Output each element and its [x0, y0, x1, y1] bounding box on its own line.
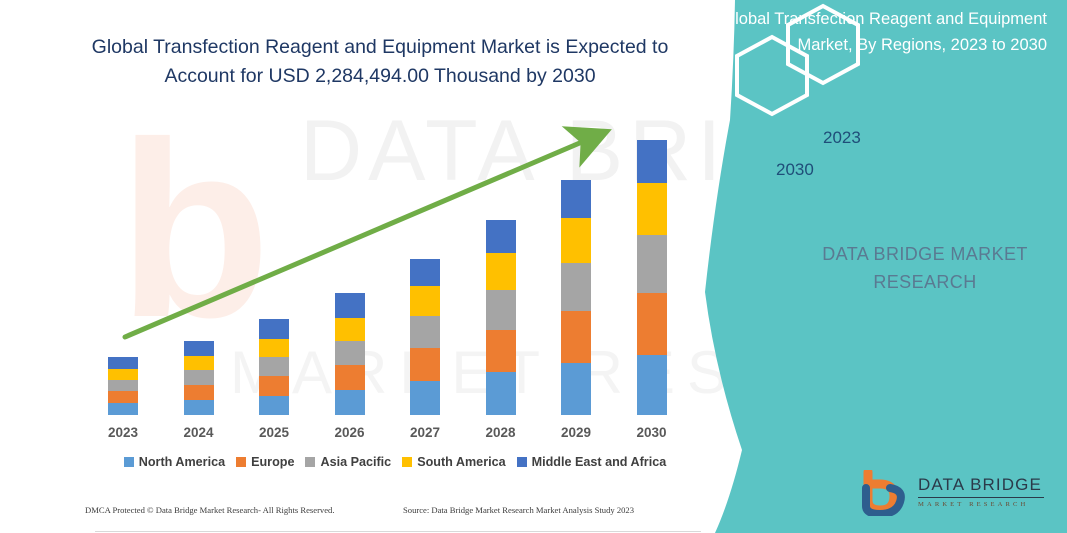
x-axis-label-2027: 2027 [395, 425, 455, 440]
bar-segment-2028-south-america [486, 253, 516, 290]
bar-segment-2029-middle-east-and-africa [561, 180, 591, 218]
infographic-root: b DATA BRIDGE MARKET RESEARCH Global Tra… [0, 0, 1067, 533]
bar-segment-2024-europe [184, 385, 214, 400]
bar-segment-2029-north-america [561, 363, 591, 415]
bar-segment-2025-south-america [259, 339, 289, 357]
footer: DMCA Protected © Data Bridge Market Rese… [0, 505, 700, 527]
bar-segment-2025-middle-east-and-africa [259, 319, 289, 339]
bar-segment-2024-north-america [184, 400, 214, 415]
right-panel: Global Transfection Reagent and Equipmen… [690, 0, 1067, 533]
bar-segment-2030-south-america [637, 183, 667, 235]
legend-swatch-icon [124, 457, 134, 467]
legend-swatch-icon [236, 457, 246, 467]
bar-segment-2024-asia-pacific [184, 370, 214, 385]
chart-plot-area [95, 120, 695, 415]
legend-item-asia-pacific[interactable]: Asia Pacific [305, 455, 391, 469]
bar-segment-2029-asia-pacific [561, 263, 591, 311]
bar-segment-2023-asia-pacific [108, 380, 138, 391]
bar-2030 [637, 140, 667, 415]
logo-tagline: MARKET RESEARCH [918, 501, 1044, 508]
logo-divider [918, 497, 1044, 498]
legend-item-north-america[interactable]: North America [124, 455, 225, 469]
legend-label: Europe [251, 455, 294, 469]
bar-segment-2025-europe [259, 376, 289, 396]
footer-source: Source: Data Bridge Market Research Mark… [403, 505, 634, 515]
hexagon-badge-2023-label: 2023 [823, 128, 861, 148]
x-axis-labels: 20232024202520262027202820292030 [95, 425, 701, 445]
bar-segment-2027-asia-pacific [410, 316, 440, 348]
panel-brand-text: DATA BRIDGE MARKET RESEARCH [800, 240, 1050, 296]
x-axis-label-2026: 2026 [320, 425, 380, 440]
bar-2027 [410, 259, 440, 415]
legend-item-middle-east-and-africa[interactable]: Middle East and Africa [517, 455, 667, 469]
bar-segment-2030-europe [637, 293, 667, 355]
bar-segment-2023-middle-east-and-africa [108, 357, 138, 369]
axis-baseline [95, 531, 701, 532]
bar-segment-2030-north-america [637, 355, 667, 415]
bar-segment-2028-middle-east-and-africa [486, 220, 516, 253]
bar-2029 [561, 180, 591, 415]
bar-segment-2028-asia-pacific [486, 290, 516, 330]
bar-segment-2025-north-america [259, 396, 289, 415]
bar-2025 [259, 319, 289, 415]
hexagon-2023-shape [788, 6, 858, 83]
x-axis-label-2023: 2023 [93, 425, 153, 440]
legend-label: Middle East and Africa [532, 455, 667, 469]
logo-name: DATA BRIDGE [918, 475, 1044, 495]
x-axis-label-2024: 2024 [169, 425, 229, 440]
bar-segment-2026-middle-east-and-africa [335, 293, 365, 318]
footer-copyright: DMCA Protected © Data Bridge Market Rese… [85, 505, 335, 515]
bar-segment-2027-south-america [410, 286, 440, 316]
legend-label: North America [139, 455, 225, 469]
bar-segment-2024-south-america [184, 356, 214, 370]
bar-segment-2030-middle-east-and-africa [637, 140, 667, 183]
bar-2023 [108, 357, 138, 415]
bar-segment-2026-europe [335, 365, 365, 390]
bar-segment-2025-asia-pacific [259, 357, 289, 376]
bar-segment-2023-north-america [108, 403, 138, 415]
legend-label: South America [417, 455, 505, 469]
bar-segment-2027-europe [410, 348, 440, 381]
hexagon-badges [690, 0, 890, 120]
bar-segment-2029-europe [561, 311, 591, 363]
x-axis-label-2029: 2029 [546, 425, 606, 440]
bar-segment-2023-south-america [108, 369, 138, 380]
bar-segment-2027-middle-east-and-africa [410, 259, 440, 286]
hexagon-2030-shape [737, 37, 807, 114]
legend-swatch-icon [517, 457, 527, 467]
bar-segment-2029-south-america [561, 218, 591, 263]
legend-item-south-america[interactable]: South America [402, 455, 505, 469]
x-axis-label-2028: 2028 [471, 425, 531, 440]
bar-segment-2023-europe [108, 391, 138, 403]
page-title: Global Transfection Reagent and Equipmen… [70, 33, 690, 91]
bridge-b-mark-icon [860, 470, 914, 516]
bar-segment-2026-asia-pacific [335, 341, 365, 365]
legend-swatch-icon [402, 457, 412, 467]
bar-2024 [184, 341, 214, 415]
legend-label: Asia Pacific [320, 455, 391, 469]
bar-segment-2026-south-america [335, 318, 365, 341]
company-logo: DATA BRIDGE MARKET RESEARCH [860, 470, 1050, 520]
bar-segment-2030-asia-pacific [637, 235, 667, 293]
x-axis-label-2030: 2030 [622, 425, 682, 440]
chart-legend: North AmericaEuropeAsia PacificSouth Ame… [95, 455, 695, 469]
bar-segment-2024-middle-east-and-africa [184, 341, 214, 356]
bar-segment-2027-north-america [410, 381, 440, 415]
logo-text-block: DATA BRIDGE MARKET RESEARCH [918, 475, 1044, 508]
bar-2026 [335, 293, 365, 415]
bar-2028 [486, 220, 516, 415]
x-axis-label-2025: 2025 [244, 425, 304, 440]
bar-segment-2028-europe [486, 330, 516, 372]
bar-segment-2028-north-america [486, 372, 516, 415]
legend-swatch-icon [305, 457, 315, 467]
legend-item-europe[interactable]: Europe [236, 455, 294, 469]
bar-segment-2026-north-america [335, 390, 365, 415]
hexagon-badge-2030-label: 2030 [776, 160, 814, 180]
